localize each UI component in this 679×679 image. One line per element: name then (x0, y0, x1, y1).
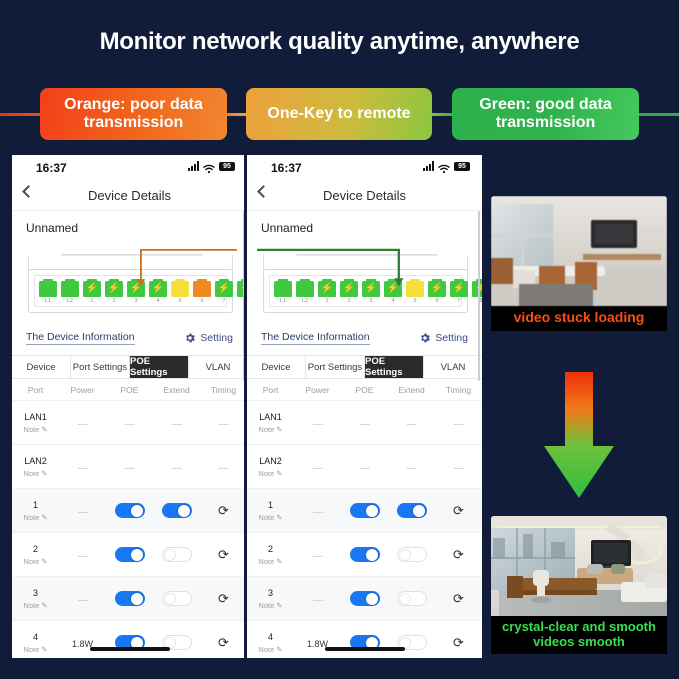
table-row[interactable]: 4Note✎ 1.8W ⟳ (247, 620, 482, 658)
office-room-photo (491, 516, 667, 616)
port-list: L1 L2 ⚡1 ⚡2 ⚡3 ⚡4 5 6 ⚡7 ⚡8 (38, 281, 247, 304)
port-indicator-2[interactable]: ⚡ (340, 281, 358, 297)
poe-bolt-icon: ⚡ (343, 284, 355, 294)
row-poe-dash: ---- (360, 419, 370, 429)
table-row[interactable]: 2Note✎ ---- ⟳ (247, 532, 482, 576)
row-power: ---- (78, 551, 88, 561)
port-label: 3 (126, 298, 146, 304)
port-indicator-3[interactable]: ⚡ (362, 281, 380, 297)
column-header-timing: Timing (435, 385, 482, 395)
row-power: ---- (313, 551, 323, 561)
table-row[interactable]: LAN1Note✎ ---- ---- ---- ---- (12, 400, 247, 444)
row-port-name: 4 (33, 632, 38, 642)
port-label: 6 (427, 298, 447, 304)
port-label: L1 (38, 298, 58, 304)
table-row[interactable]: LAN2Note✎ ---- ---- ---- ---- (12, 444, 247, 488)
port-cell: L1 (38, 281, 58, 304)
row-power: ---- (78, 595, 88, 605)
phone-screenshot-before: 16:37 95 Device Details Unnamed L1 L2 ⚡1… (12, 155, 247, 658)
extend-toggle[interactable] (162, 547, 192, 562)
poe-bolt-icon: ⚡ (365, 284, 377, 294)
port-indicator-3[interactable]: ⚡ (127, 281, 145, 297)
row-power: ---- (78, 419, 88, 429)
port-label: 2 (104, 298, 124, 304)
edit-pencil-icon: ✎ (41, 469, 47, 478)
port-cell: ⚡7 (449, 281, 469, 304)
row-port-name: LAN2 (259, 456, 282, 466)
signal-bars-icon (423, 161, 434, 171)
port-indicator-2[interactable]: ⚡ (105, 281, 123, 297)
port-cell: 6 (192, 281, 212, 304)
port-indicator-6[interactable] (193, 281, 211, 297)
switch-diagram: L1 L2 ⚡1 ⚡2 ⚡3 ⚡4 5 6 ⚡7 ⚡8 (22, 237, 237, 325)
row-power: ---- (313, 507, 323, 517)
port-label: 1 (317, 298, 337, 304)
extend-toggle[interactable] (162, 503, 192, 518)
setting-button[interactable]: Setting (184, 332, 233, 344)
tab-poe-settings[interactable]: POE Settings (365, 356, 424, 378)
row-timing-dash: ---- (219, 419, 229, 429)
nav-title: Device Details (88, 188, 171, 203)
port-cell: ⚡8 (471, 281, 482, 304)
port-indicator-l1[interactable] (39, 281, 57, 297)
column-header-poe: POE (106, 385, 153, 395)
row-power: ---- (313, 463, 323, 473)
port-cell: ⚡6 (427, 281, 447, 304)
tab-poe-settings[interactable]: POE Settings (130, 356, 189, 378)
back-chevron-icon[interactable] (257, 185, 270, 198)
row-poe-dash: ---- (125, 463, 135, 473)
page-title: Monitor network quality anytime, anywher… (0, 28, 679, 56)
legend-pill-green: Green: good data transmission (452, 88, 639, 140)
edit-pencil-icon: ✎ (41, 645, 47, 654)
setting-label: Setting (435, 332, 468, 344)
row-poe-dash: ---- (125, 419, 135, 429)
poe-bolt-icon: ⚡ (218, 284, 230, 294)
port-list: L1 L2 ⚡1 ⚡2 ⚡3 ⚡4 5 ⚡6 ⚡7 ⚡8 (273, 281, 482, 304)
row-port-name: 4 (268, 632, 273, 642)
port-label: 7 (449, 298, 469, 304)
port-label: 4 (383, 298, 403, 304)
column-header-port: Port (12, 385, 59, 395)
legend-pill-one-key: One-Key to remote (246, 88, 432, 140)
video-stuck-panel: video stuck loading (491, 196, 667, 362)
table-row[interactable]: LAN1Note✎ ---- ---- ---- ---- (247, 400, 482, 444)
row-port-name: 1 (33, 500, 38, 510)
column-header-extend: Extend (153, 385, 200, 395)
row-note[interactable]: Note✎ (258, 513, 282, 522)
tab-vlan[interactable]: VLAN (424, 356, 482, 378)
device-name-label: Unnamed (12, 211, 247, 237)
connector-line-mid-2 (431, 113, 453, 116)
device-info-row: The Device Information Setting (12, 325, 247, 355)
port-cell: ⚡2 (339, 281, 359, 304)
row-port-name: 3 (33, 588, 38, 598)
table-header: Port Power POE Extend Timing (12, 379, 247, 400)
row-extend-dash: ---- (172, 463, 182, 473)
row-note[interactable]: Note✎ (23, 557, 47, 566)
port-cell: ⚡7 (214, 281, 234, 304)
battery-indicator: 95 (219, 162, 235, 171)
table-row[interactable]: LAN2Note✎ ---- ---- ---- ---- (247, 444, 482, 488)
table-row[interactable]: 4Note✎ 1.8W ⟳ (12, 620, 247, 658)
poe-bolt-icon: ⚡ (453, 284, 465, 294)
row-extend-dash: ---- (172, 419, 182, 429)
timing-icon[interactable]: ⟳ (218, 591, 229, 607)
column-header-port: Port (247, 385, 294, 395)
row-extend-dash: ---- (407, 463, 417, 473)
extend-toggle[interactable] (397, 503, 427, 518)
poe-toggle[interactable] (350, 503, 380, 518)
row-note[interactable]: Note✎ (258, 601, 282, 610)
column-header-power: Power (59, 385, 106, 395)
edit-pencil-icon: ✎ (276, 645, 282, 654)
scrollbar[interactable] (478, 211, 480, 381)
row-note[interactable]: Note✎ (258, 557, 282, 566)
port-label: L2 (295, 298, 315, 304)
wifi-icon (438, 161, 450, 171)
port-label: L1 (273, 298, 293, 304)
setting-label: Setting (200, 332, 233, 344)
battery-indicator: 95 (454, 162, 470, 171)
port-cell: ⚡3 (361, 281, 381, 304)
port-label: 8 (471, 298, 482, 304)
row-port-name: 1 (268, 500, 273, 510)
row-note[interactable]: Note✎ (23, 513, 47, 522)
tab-device[interactable]: Device (12, 356, 71, 378)
connector-line-mid-1 (225, 113, 247, 116)
poe-toggle[interactable] (115, 547, 145, 562)
edit-pencil-icon: ✎ (276, 557, 282, 566)
down-arrow-icon (536, 372, 622, 504)
row-power: ---- (78, 463, 88, 473)
port-label: L2 (60, 298, 80, 304)
port-cell: 5 (405, 281, 425, 304)
row-power: ---- (78, 507, 88, 517)
port-indicator-7[interactable]: ⚡ (450, 281, 468, 297)
port-indicator-l2[interactable] (296, 281, 314, 297)
port-indicator-l2[interactable] (61, 281, 79, 297)
extend-toggle[interactable] (397, 547, 427, 562)
port-cell: ⚡1 (82, 281, 102, 304)
device-information-link[interactable]: The Device Information (26, 331, 135, 345)
phone-screenshot-after: 16:37 95 Device Details Unnamed L1 L2 ⚡1… (247, 155, 482, 658)
row-timing-dash: ---- (219, 463, 229, 473)
port-indicator-4[interactable]: ⚡ (384, 281, 402, 297)
edit-pencil-icon: ✎ (276, 513, 282, 522)
row-extend-dash: ---- (407, 419, 417, 429)
row-timing-dash: ---- (454, 419, 464, 429)
row-note[interactable]: Note✎ (23, 425, 47, 434)
row-note[interactable]: Note✎ (23, 469, 47, 478)
timing-icon[interactable]: ⟳ (453, 635, 464, 651)
timing-icon[interactable]: ⟳ (218, 547, 229, 563)
edit-pencil-icon: ✎ (276, 601, 282, 610)
port-cell: L2 (60, 281, 80, 304)
row-note[interactable]: Note✎ (258, 645, 282, 654)
tab-port-settings[interactable]: Port Settings (71, 356, 130, 378)
poe-bolt-icon: ⚡ (86, 284, 98, 294)
status-time: 16:37 (271, 161, 302, 175)
table-row[interactable]: 1Note✎ ---- ⟳ (12, 488, 247, 532)
nav-bar: Device Details (247, 181, 482, 211)
home-indicator (325, 647, 405, 651)
column-header-power: Power (294, 385, 341, 395)
connector-line-left (0, 113, 42, 116)
table-row[interactable]: 3Note✎ ---- ⟳ (247, 576, 482, 620)
nav-title: Device Details (323, 188, 406, 203)
port-cell: ⚡3 (126, 281, 146, 304)
gear-icon (184, 332, 196, 344)
port-indicator-1[interactable]: ⚡ (83, 281, 101, 297)
edit-pencil-icon: ✎ (41, 425, 47, 434)
nav-bar: Device Details (12, 181, 247, 211)
poe-toggle[interactable] (115, 591, 145, 606)
home-indicator (90, 647, 170, 651)
column-header-timing: Timing (200, 385, 247, 395)
port-indicator-1[interactable]: ⚡ (318, 281, 336, 297)
tab-bar: Device Port Settings POE Settings VLAN (247, 355, 482, 379)
timing-icon[interactable]: ⟳ (218, 635, 229, 651)
port-cell: ⚡2 (104, 281, 124, 304)
port-label: 7 (214, 298, 234, 304)
port-label: 5 (405, 298, 425, 304)
port-label: 1 (82, 298, 102, 304)
port-label: 2 (339, 298, 359, 304)
poe-bolt-icon: ⚡ (130, 284, 142, 294)
port-indicator-6[interactable]: ⚡ (428, 281, 446, 297)
edit-pencil-icon: ✎ (41, 601, 47, 610)
gear-icon (419, 332, 431, 344)
timing-icon[interactable]: ⟳ (218, 503, 229, 519)
row-power: ---- (313, 419, 323, 429)
table-header: Port Power POE Extend Timing (247, 379, 482, 400)
port-indicator-4[interactable]: ⚡ (149, 281, 167, 297)
row-poe-dash: ---- (360, 463, 370, 473)
poe-bolt-icon: ⚡ (152, 284, 164, 294)
device-information-link[interactable]: The Device Information (261, 331, 370, 345)
row-note[interactable]: Note✎ (23, 601, 47, 610)
port-cell: ⚡1 (317, 281, 337, 304)
port-cell: L1 (273, 281, 293, 304)
row-port-name: 2 (33, 544, 38, 554)
extend-toggle[interactable] (397, 591, 427, 606)
tab-vlan[interactable]: VLAN (189, 356, 247, 378)
timing-icon[interactable]: ⟳ (453, 503, 464, 519)
extend-toggle[interactable] (162, 591, 192, 606)
column-header-poe: POE (341, 385, 388, 395)
edit-pencil-icon: ✎ (276, 425, 282, 434)
poe-toggle[interactable] (115, 503, 145, 518)
port-cell: ⚡4 (148, 281, 168, 304)
port-label: 3 (361, 298, 381, 304)
status-bar: 16:37 95 (247, 155, 482, 181)
row-note[interactable]: Note✎ (23, 645, 47, 654)
back-chevron-icon[interactable] (22, 185, 35, 198)
port-label: 4 (148, 298, 168, 304)
status-time: 16:37 (36, 161, 67, 175)
tab-device[interactable]: Device (247, 356, 306, 378)
table-row[interactable]: 2Note✎ ---- ⟳ (12, 532, 247, 576)
poe-bolt-icon: ⚡ (431, 284, 443, 294)
crystal-clear-caption: crystal-clear and smooth videos smooth (491, 616, 667, 654)
timing-icon[interactable]: ⟳ (453, 591, 464, 607)
port-cell: 5 (170, 281, 190, 304)
column-header-extend: Extend (388, 385, 435, 395)
row-timing-dash: ---- (454, 463, 464, 473)
poe-bolt-icon: ⚡ (387, 284, 399, 294)
poe-bolt-icon: ⚡ (108, 284, 120, 294)
legend-pill-orange: Orange: poor data transmission (40, 88, 227, 140)
crystal-clear-panel: crystal-clear and smooth videos smooth (491, 516, 667, 658)
row-port-name: LAN2 (24, 456, 47, 466)
legend-banner-row: Orange: poor data transmission One-Key t… (0, 88, 679, 140)
setting-button[interactable]: Setting (419, 332, 468, 344)
signal-bars-icon (188, 161, 199, 171)
port-indicator-l1[interactable] (274, 281, 292, 297)
edit-pencil-icon: ✎ (41, 557, 47, 566)
port-indicator-7[interactable]: ⚡ (215, 281, 233, 297)
port-cell: L2 (295, 281, 315, 304)
port-label: 5 (170, 298, 190, 304)
row-port-name: 2 (268, 544, 273, 554)
status-bar: 16:37 95 (12, 155, 247, 181)
row-note[interactable]: Note✎ (258, 425, 282, 434)
switch-diagram: L1 L2 ⚡1 ⚡2 ⚡3 ⚡4 5 ⚡6 ⚡7 ⚡8 (257, 237, 472, 325)
poe-toggle[interactable] (350, 591, 380, 606)
port-indicator-5[interactable] (406, 281, 424, 297)
edit-pencil-icon: ✎ (41, 513, 47, 522)
table-row[interactable]: 3Note✎ ---- ⟳ (12, 576, 247, 620)
row-power: ---- (313, 595, 323, 605)
table-row[interactable]: 1Note✎ ---- ⟳ (247, 488, 482, 532)
edit-pencil-icon: ✎ (276, 469, 282, 478)
device-name-label: Unnamed (247, 211, 482, 237)
row-port-name: LAN1 (259, 412, 282, 422)
connector-line-right (634, 113, 679, 116)
video-stuck-caption: video stuck loading (491, 306, 667, 331)
port-cell: ⚡4 (383, 281, 403, 304)
port-indicator-8[interactable]: ⚡ (472, 281, 482, 297)
device-info-row: The Device Information Setting (247, 325, 482, 355)
poe-toggle[interactable] (350, 547, 380, 562)
row-port-name: 3 (268, 588, 273, 598)
port-label: 6 (192, 298, 212, 304)
tab-port-settings[interactable]: Port Settings (306, 356, 365, 378)
poe-bolt-icon: ⚡ (321, 284, 333, 294)
row-port-name: LAN1 (24, 412, 47, 422)
blurry-room-photo (491, 196, 667, 306)
row-note[interactable]: Note✎ (258, 469, 282, 478)
port-indicator-5[interactable] (171, 281, 189, 297)
wifi-icon (203, 161, 215, 171)
tab-bar: Device Port Settings POE Settings VLAN (12, 355, 247, 379)
timing-icon[interactable]: ⟳ (453, 547, 464, 563)
